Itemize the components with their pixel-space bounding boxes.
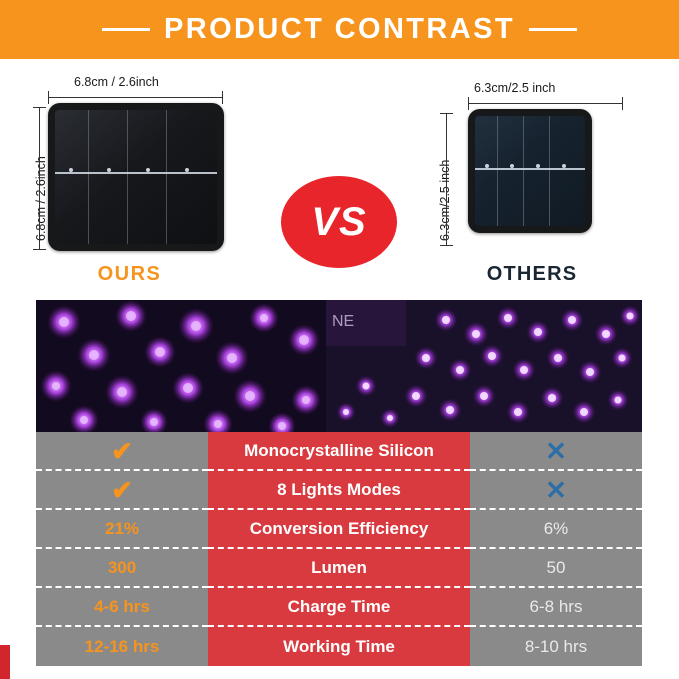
row-feature-label: Monocrystalline Silicon (208, 432, 470, 471)
header-rule-right (529, 28, 577, 31)
row-feature-label: Charge Time (208, 588, 470, 627)
others-label: OTHERS (432, 263, 632, 286)
ours-label: OURS (22, 263, 237, 286)
others-dim-top-line (468, 103, 623, 104)
busbar (475, 168, 585, 170)
row-ours-value: ✔ (36, 432, 208, 471)
ours-solar-surface (55, 110, 217, 244)
others-dim-left-line (446, 113, 447, 245)
row-others-value: 6% (470, 510, 642, 549)
row-others-value: 6-8 hrs (470, 588, 642, 627)
ours-dim-top-line (48, 97, 223, 98)
vs-badge: VS (281, 176, 397, 268)
cell-divider (497, 116, 498, 226)
row-ours-value: 21% (36, 510, 208, 549)
page-title: PRODUCT CONTRAST (164, 13, 515, 46)
table-row: 21% Conversion Efficiency 6% (36, 510, 642, 549)
others-dimension-top: 6.3cm/2.5 inch (474, 81, 555, 95)
busbar-node (146, 168, 150, 172)
table-row: 300 Lumen 50 (36, 549, 642, 588)
comparison-section: 6.8cm / 2.6inch 6.8cm / 2.6inch OURS (0, 59, 679, 296)
ours-dim-left-line (39, 107, 40, 249)
busbar-node (562, 164, 566, 168)
row-feature-label: 8 Lights Modes (208, 471, 470, 510)
photo-strip: NE (36, 300, 642, 432)
cell-divider (166, 110, 167, 244)
vs-label: VS (281, 176, 397, 268)
check-icon: ✔ (111, 477, 133, 503)
cell-divider (88, 110, 89, 244)
busbar-node (107, 168, 111, 172)
row-others-value: 8-10 hrs (470, 627, 642, 666)
row-ours-value: 12-16 hrs (36, 627, 208, 666)
busbar-node (185, 168, 189, 172)
table-row: ✔ 8 Lights Modes ✕ (36, 471, 642, 510)
others-solar-panel-image (468, 109, 592, 233)
table-row: 12-16 hrs Working Time 8-10 hrs (36, 627, 642, 666)
busbar-node (485, 164, 489, 168)
row-others-value: ✕ (470, 471, 642, 510)
row-others-value: ✕ (470, 432, 642, 471)
busbar-node (536, 164, 540, 168)
header-inner: PRODUCT CONTRAST (0, 0, 679, 59)
check-icon: ✔ (111, 438, 133, 464)
comparison-table: ✔ Monocrystalline Silicon ✕ ✔ 8 Lights M… (36, 432, 642, 666)
cell-divider (523, 116, 524, 226)
ours-dimension-left: 6.8cm / 2.6inch (34, 156, 48, 241)
table-row: 4-6 hrs Charge Time 6-8 hrs (36, 588, 642, 627)
cell-divider (549, 116, 550, 226)
row-others-value: 50 (470, 549, 642, 588)
header-rule-left (102, 28, 150, 31)
svg-text:NE: NE (332, 313, 354, 330)
others-dimension-left: 6.3cm/2.5 inch (438, 160, 452, 241)
ours-dimension-top: 6.8cm / 2.6inch (74, 75, 159, 89)
ours-lights-photo-svg (36, 300, 326, 432)
cross-icon: ✕ (545, 438, 567, 464)
row-ours-value: 300 (36, 549, 208, 588)
ours-dim-top-tick-right (222, 91, 223, 104)
row-ours-value: 4-6 hrs (36, 588, 208, 627)
ours-lights-photo (36, 300, 326, 432)
others-lights-photo-svg: NE (326, 300, 642, 432)
table-row: ✔ Monocrystalline Silicon ✕ (36, 432, 642, 471)
busbar-node (69, 168, 73, 172)
cell-divider (127, 110, 128, 244)
row-ours-value: ✔ (36, 471, 208, 510)
others-dim-top-tick-left (468, 97, 469, 110)
busbar (55, 172, 217, 174)
others-lights-photo: NE (326, 300, 642, 432)
row-feature-label: Lumen (208, 549, 470, 588)
ours-dim-left-tick-top (33, 107, 46, 108)
busbar-node (510, 164, 514, 168)
others-dim-left-tick-bottom (440, 245, 453, 246)
ours-dim-top-tick-left (48, 91, 49, 104)
cross-icon: ✕ (545, 477, 567, 503)
row-feature-label: Conversion Efficiency (208, 510, 470, 549)
row-feature-label: Working Time (208, 627, 470, 666)
ours-panel: 6.8cm / 2.6inch 6.8cm / 2.6inch OURS (22, 71, 237, 291)
others-dim-left-tick-top (440, 113, 453, 114)
bottom-left-corner-mark (0, 645, 10, 679)
others-solar-surface (475, 116, 585, 226)
ours-solar-panel-image (48, 103, 224, 251)
header-banner: PRODUCT CONTRAST (0, 0, 679, 59)
others-panel: 6.3cm/2.5 inch 6.3cm/2.5 inch OTHERS (432, 81, 632, 291)
others-dim-top-tick-right (622, 97, 623, 110)
ours-dim-left-tick-bottom (33, 249, 46, 250)
